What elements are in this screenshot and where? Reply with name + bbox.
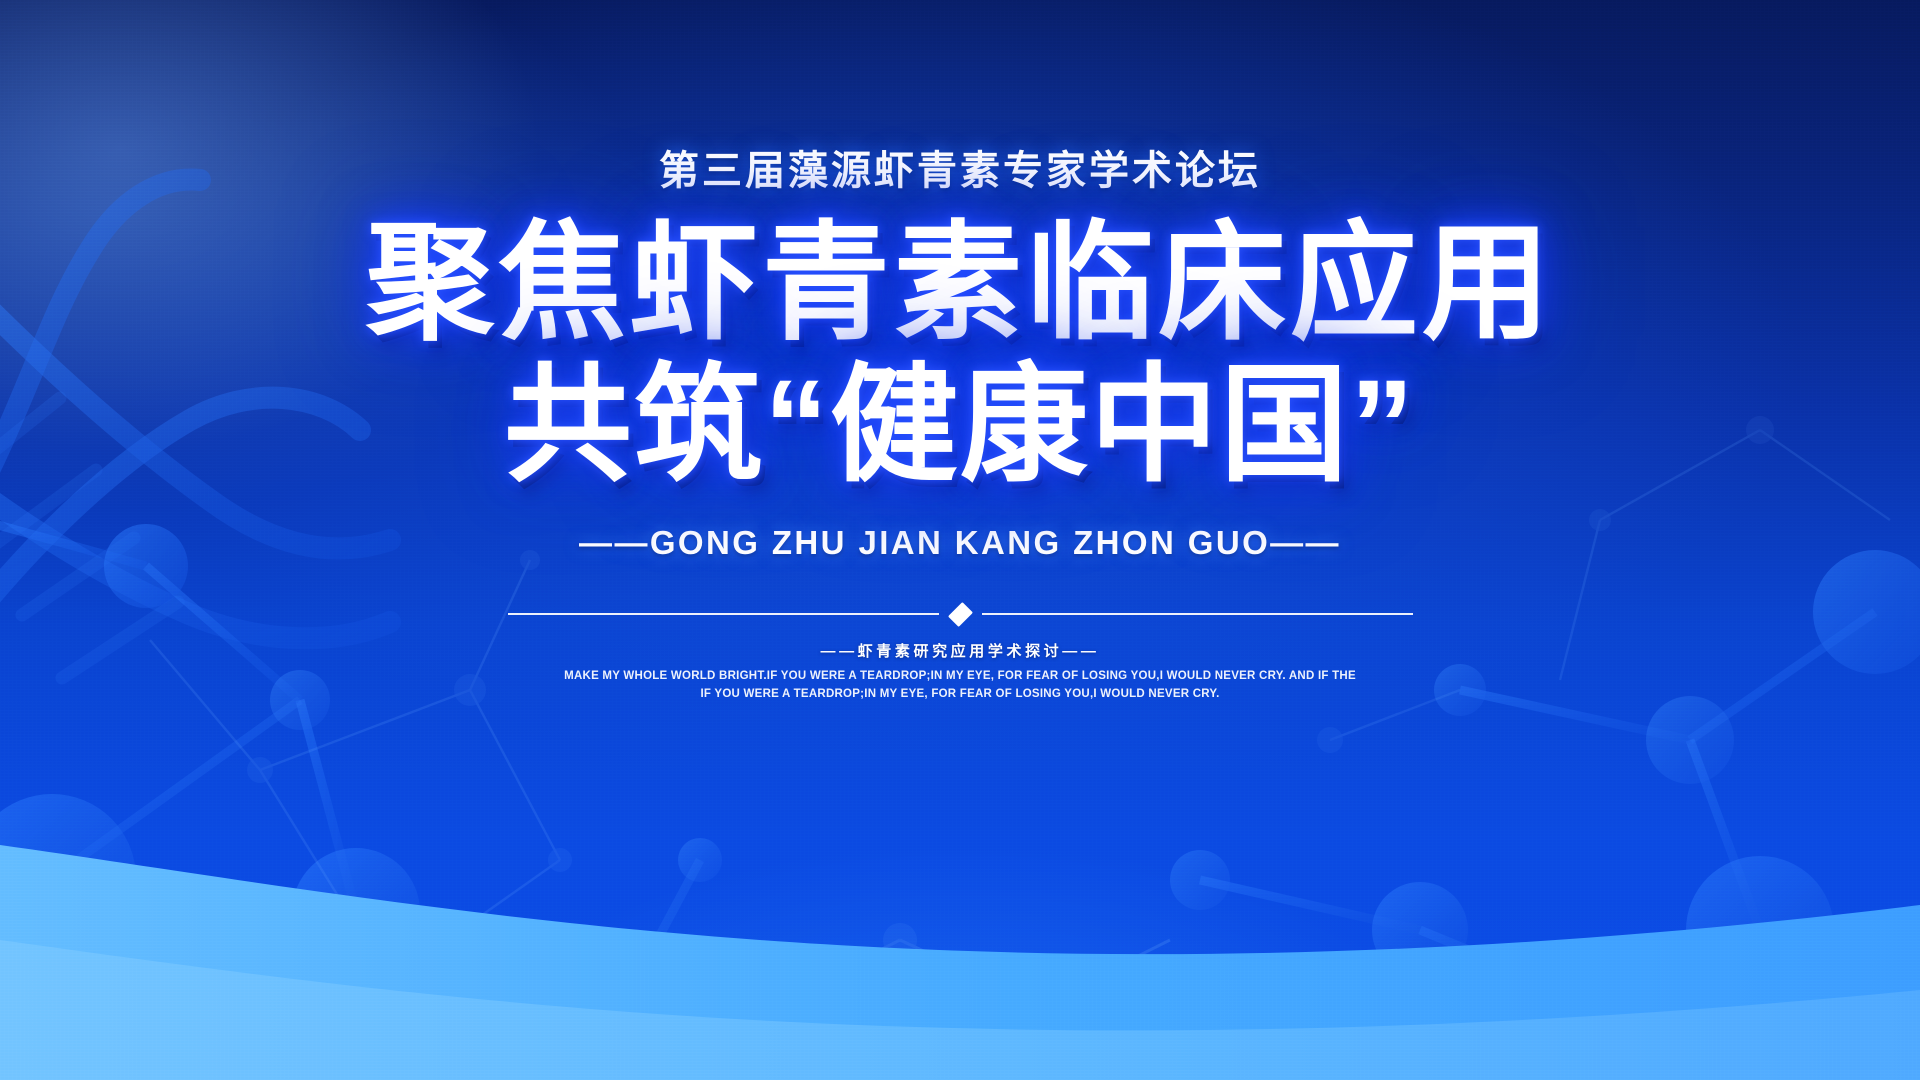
footnote-english-line-1: MAKE MY WHOLE WORLD BRIGHT.IF YOU WERE A… bbox=[564, 668, 1356, 686]
divider bbox=[508, 604, 1413, 624]
divider-rule-left bbox=[508, 613, 939, 615]
title-line-2: 共筑“健康中国” bbox=[366, 362, 1554, 490]
poster-canvas: 第三届藻源虾青素专家学术论坛 聚焦虾青素临床应用 共筑“健康中国” ——GONG… bbox=[0, 0, 1920, 1080]
divider-rule-right bbox=[982, 613, 1413, 615]
footnote-block: ——虾青素研究应用学术探讨—— MAKE MY WHOLE WORLD BRIG… bbox=[564, 640, 1356, 704]
footnote-english-line-2: IF YOU WERE A TEARDROP;IN MY EYE, FOR FE… bbox=[564, 686, 1356, 704]
pinyin-subtitle: ——GONG ZHU JIAN KANG ZHON GUO—— bbox=[579, 524, 1341, 562]
footnote-chinese: ——虾青素研究应用学术探讨—— bbox=[564, 640, 1356, 661]
footnote-english: MAKE MY WHOLE WORLD BRIGHT.IF YOU WERE A… bbox=[564, 668, 1356, 704]
title-line-1: 聚焦虾青素临床应用 bbox=[366, 220, 1554, 348]
poster-content: 第三届藻源虾青素专家学术论坛 聚焦虾青素临床应用 共筑“健康中国” ——GONG… bbox=[0, 0, 1920, 1080]
diamond-icon bbox=[948, 602, 973, 627]
page-title: 聚焦虾青素临床应用 共筑“健康中国” bbox=[366, 220, 1554, 490]
event-subtitle: 第三届藻源虾青素专家学术论坛 bbox=[659, 138, 1261, 196]
